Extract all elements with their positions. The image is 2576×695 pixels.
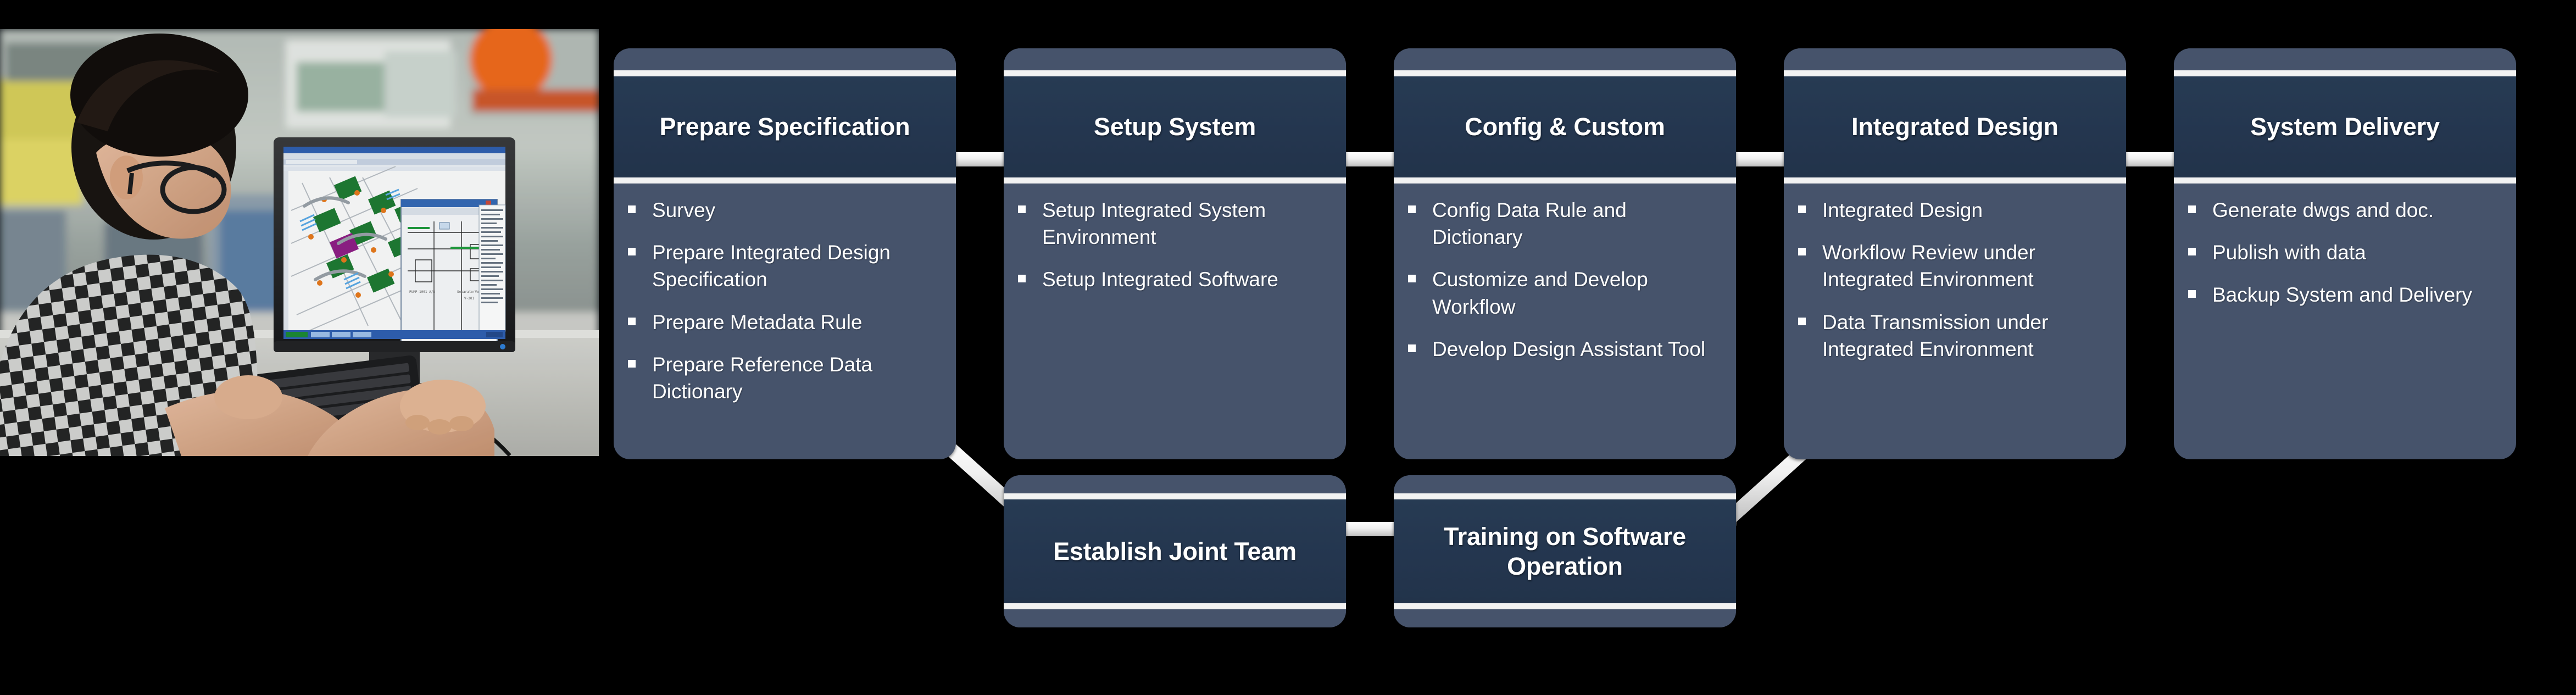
card-header: Prepare Specification (614, 76, 956, 177)
card-top-cap (1004, 48, 1346, 70)
card-divider-bottom (1394, 177, 1736, 184)
card-title: Training on Software Operation (1394, 522, 1736, 581)
card-header: System Delivery (2174, 76, 2516, 177)
card-header: Integrated Design (1784, 76, 2126, 177)
list-item: Develop Design Assistant Tool (1408, 336, 1722, 363)
list-item: Workflow Review under Integrated Environ… (1798, 239, 2112, 293)
card-top-cap (1394, 475, 1736, 493)
list-item: Customize and Develop Workflow (1408, 266, 1722, 320)
list-item: Integrated Design (1798, 197, 2112, 224)
card-divider-bottom (1004, 603, 1346, 609)
card-title: Integrated Design (1841, 112, 2068, 141)
square-bullet-icon (1798, 318, 1806, 325)
card-top-cap (1394, 48, 1736, 70)
list-item-label: Develop Design Assistant Tool (1432, 336, 1705, 363)
list-item: Setup Integrated Software (1018, 266, 1332, 293)
card-header: Establish Joint Team (1004, 499, 1346, 603)
card-integrated-design[interactable]: Integrated Design Integrated Design Work… (1784, 48, 2126, 459)
list-item-label: Customize and Develop Workflow (1432, 266, 1722, 320)
list-item-label: Integrated Design (1822, 197, 1983, 224)
workstation-photo: PUMP-1001 A/B SeparatorVessel V-201 (0, 29, 599, 456)
list-item: Prepare Reference Data Dictionary (628, 351, 942, 405)
square-bullet-icon (2188, 290, 2196, 298)
square-bullet-icon (628, 360, 636, 368)
list-item-label: Workflow Review under Integrated Environ… (1822, 239, 2112, 293)
card-divider-top (1394, 493, 1736, 499)
square-bullet-icon (1018, 275, 1026, 282)
card-title: Prepare Specification (650, 112, 920, 141)
diagram-canvas: PUMP-1001 A/B SeparatorVessel V-201 (0, 0, 2576, 695)
card-system-delivery[interactable]: System Delivery Generate dwgs and doc. P… (2174, 48, 2516, 459)
card-title: System Delivery (2240, 112, 2450, 141)
card-divider-bottom (2174, 177, 2516, 184)
card-training-on-software-operation[interactable]: Training on Software Operation (1394, 475, 1736, 627)
card-title: Establish Joint Team (1043, 537, 1306, 566)
list-item-label: Setup Integrated System Environment (1042, 197, 1332, 251)
photo-illustration: PUMP-1001 A/B SeparatorVessel V-201 (0, 29, 599, 456)
card-top-cap (1784, 48, 2126, 70)
card-title: Setup System (1084, 112, 1266, 141)
list-item: Backup System and Delivery (2188, 281, 2502, 308)
square-bullet-icon (628, 205, 636, 213)
card-body: Survey Prepare Integrated Design Specifi… (614, 184, 956, 410)
list-item-label: Prepare Reference Data Dictionary (652, 351, 942, 405)
list-item-label: Backup System and Delivery (2212, 281, 2472, 308)
card-setup-system[interactable]: Setup System Setup Integrated System Env… (1004, 48, 1346, 459)
list-item: Data Transmission under Integrated Envir… (1798, 309, 2112, 363)
card-divider-top (1394, 70, 1736, 76)
list-item: Prepare Metadata Rule (628, 309, 942, 336)
card-divider-bottom (1004, 177, 1346, 184)
card-prepare-specification[interactable]: Prepare Specification Survey Prepare Int… (614, 48, 956, 459)
square-bullet-icon (628, 318, 636, 325)
square-bullet-icon (2188, 205, 2196, 213)
card-title: Config & Custom (1455, 112, 1674, 141)
list-item-label: Publish with data (2212, 239, 2366, 266)
list-item-label: Prepare Metadata Rule (652, 309, 863, 336)
card-divider-top (1004, 70, 1346, 76)
card-bottom-cap (1394, 609, 1736, 627)
card-divider-top (614, 70, 956, 76)
card-body: Integrated Design Workflow Review under … (1784, 184, 2126, 368)
card-header: Setup System (1004, 76, 1346, 177)
list-item-label: Prepare Integrated Design Specification (652, 239, 942, 293)
card-divider-top (1004, 493, 1346, 499)
card-bottom-cap (1004, 609, 1346, 627)
card-divider-top (1784, 70, 2126, 76)
card-header: Config & Custom (1394, 76, 1736, 177)
square-bullet-icon (1018, 205, 1026, 213)
card-top-cap (1004, 475, 1346, 493)
card-divider-bottom (614, 177, 956, 184)
square-bullet-icon (2188, 248, 2196, 255)
list-item: Config Data Rule and Dictionary (1408, 197, 1722, 251)
card-header: Training on Software Operation (1394, 499, 1736, 603)
card-body: Setup Integrated System Environment Setu… (1004, 184, 1346, 299)
card-divider-top (2174, 70, 2516, 76)
card-body: Config Data Rule and Dictionary Customiz… (1394, 184, 1736, 368)
square-bullet-icon (1798, 248, 1806, 255)
card-establish-joint-team[interactable]: Establish Joint Team (1004, 475, 1346, 627)
list-item: Generate dwgs and doc. (2188, 197, 2502, 224)
list-item-label: Setup Integrated Software (1042, 266, 1278, 293)
card-divider-bottom (1784, 177, 2126, 184)
list-item: Setup Integrated System Environment (1018, 197, 1332, 251)
square-bullet-icon (1408, 275, 1416, 282)
list-item: Publish with data (2188, 239, 2502, 266)
card-body: Generate dwgs and doc. Publish with data… (2174, 184, 2516, 314)
list-item-label: Data Transmission under Integrated Envir… (1822, 309, 2112, 363)
square-bullet-icon (1798, 205, 1806, 213)
list-item-label: Generate dwgs and doc. (2212, 197, 2434, 224)
card-top-cap (614, 48, 956, 70)
list-item-label: Config Data Rule and Dictionary (1432, 197, 1722, 251)
card-config-and-custom[interactable]: Config & Custom Config Data Rule and Dic… (1394, 48, 1736, 459)
square-bullet-icon (628, 248, 636, 255)
square-bullet-icon (1408, 344, 1416, 352)
card-top-cap (2174, 48, 2516, 70)
card-divider-bottom (1394, 603, 1736, 609)
list-item: Prepare Integrated Design Specification (628, 239, 942, 293)
list-item: Survey (628, 197, 942, 224)
list-item-label: Survey (652, 197, 715, 224)
square-bullet-icon (1408, 205, 1416, 213)
